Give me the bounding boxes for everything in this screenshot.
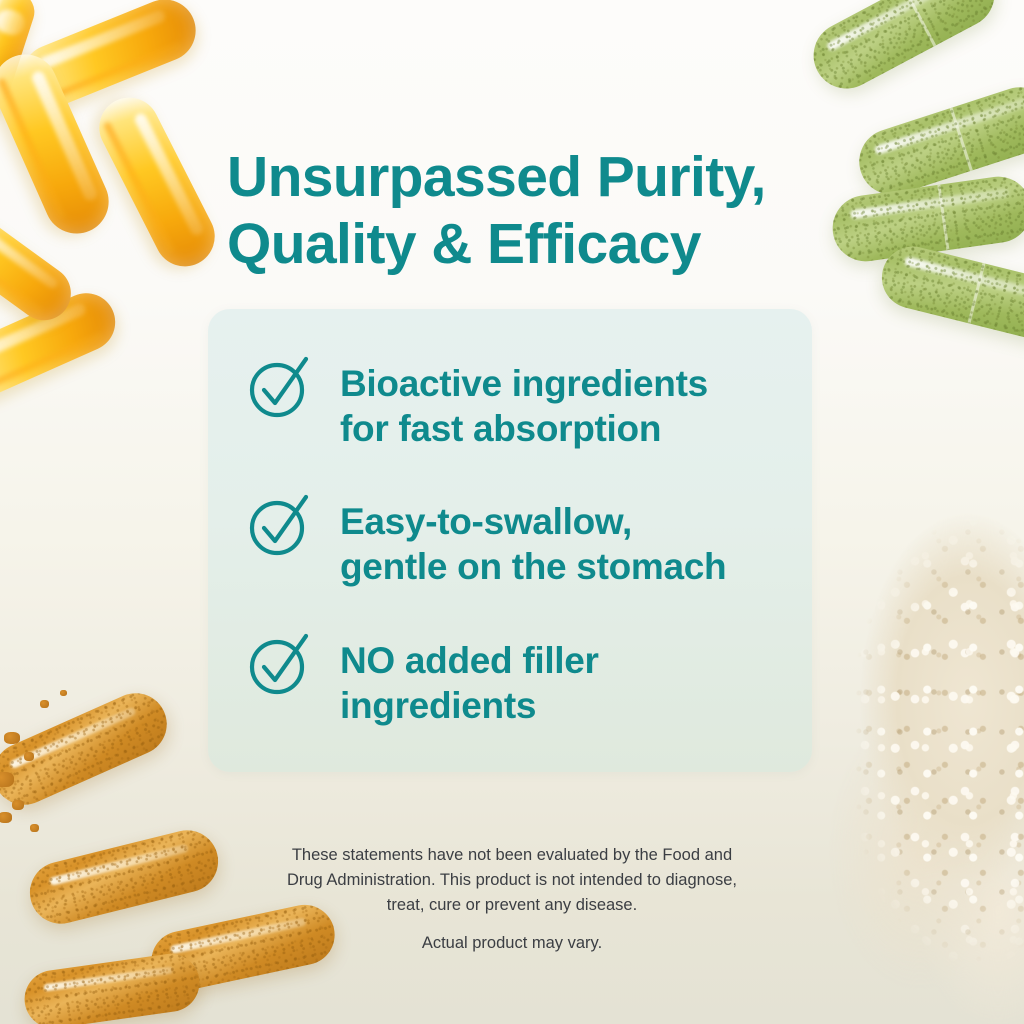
list-item: Easy-to-swallow, gentle on the stomach xyxy=(244,493,794,589)
benefit-label-line-1: Easy-to-swallow, xyxy=(340,499,726,544)
actual-product-note: Actual product may vary. xyxy=(0,934,1024,953)
fda-disclaimer-line-1: These statements have not been evaluated… xyxy=(0,843,1024,868)
benefit-label-line-2: ingredients xyxy=(340,683,599,728)
benefit-label: Easy-to-swallow, gentle on the stomach xyxy=(340,493,726,589)
page-title-line-1: Unsurpassed Purity, xyxy=(227,145,766,209)
benefit-label: Bioactive ingredients for fast absorptio… xyxy=(340,355,708,451)
page-title: Unsurpassed Purity, Quality & Efficacy xyxy=(227,144,867,279)
fda-disclaimer-line-3: treat, cure or prevent any disease. xyxy=(0,893,1024,918)
fda-disclaimer: These statements have not been evaluated… xyxy=(0,843,1024,917)
list-item: NO added filler ingredients xyxy=(244,632,794,728)
benefit-label-line-1: NO added filler xyxy=(340,638,599,683)
fda-disclaimer-line-2: Drug Administration. This product is not… xyxy=(0,868,1024,893)
benefits-card: Bioactive ingredients for fast absorptio… xyxy=(208,309,812,772)
check-circle-icon xyxy=(244,626,318,700)
benefit-label-line-2: gentle on the stomach xyxy=(340,544,726,589)
list-item: Bioactive ingredients for fast absorptio… xyxy=(244,355,794,451)
benefit-label-line-2: for fast absorption xyxy=(340,406,708,451)
benefit-label: NO added filler ingredients xyxy=(340,632,599,728)
benefit-list: Bioactive ingredients for fast absorptio… xyxy=(244,355,794,728)
benefit-label-line-1: Bioactive ingredients xyxy=(340,361,708,406)
check-circle-icon xyxy=(244,487,318,561)
page-title-line-2: Quality & Efficacy xyxy=(227,211,867,278)
check-circle-icon xyxy=(244,349,318,423)
promo-graphic: Unsurpassed Purity, Quality & Efficacy B… xyxy=(0,0,1024,1024)
